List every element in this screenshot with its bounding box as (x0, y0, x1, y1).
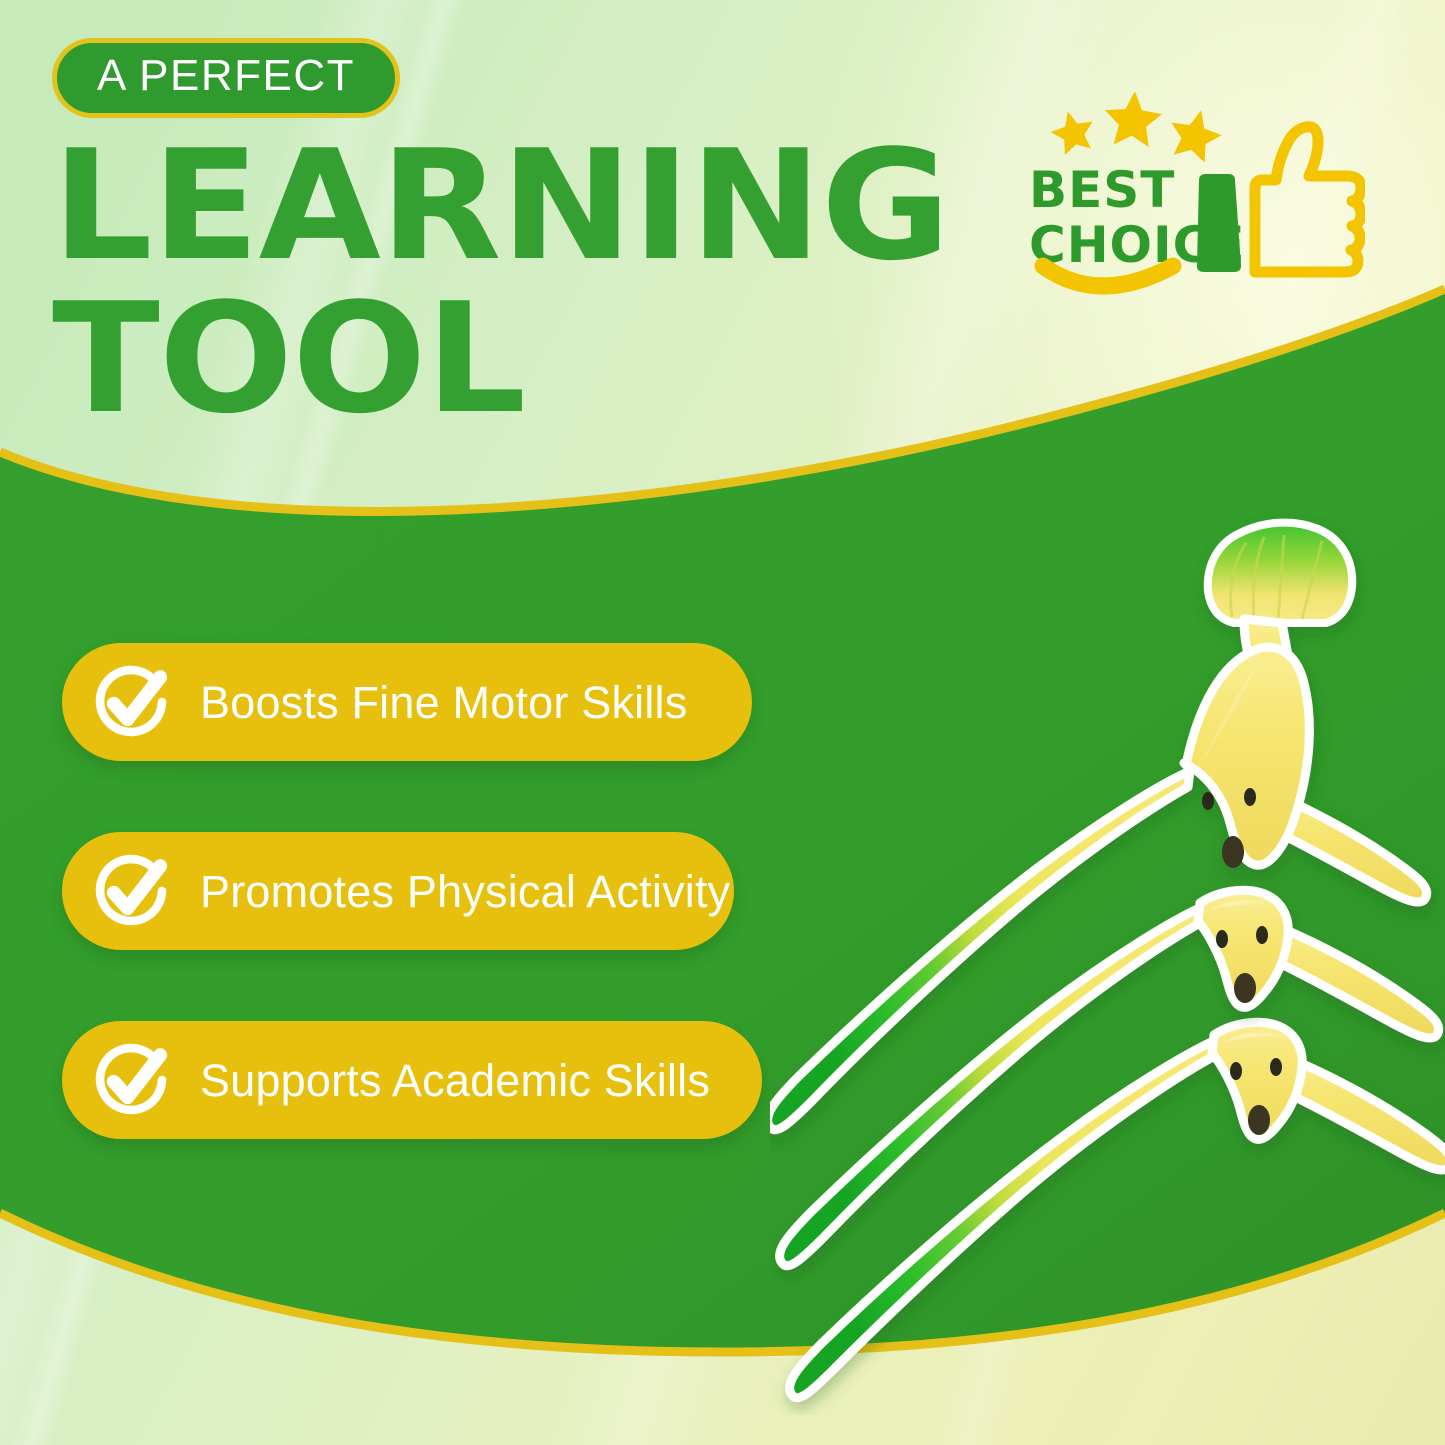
headline-line-2: TOOL (52, 285, 988, 434)
thumb-cuff-shape (1197, 174, 1241, 272)
check-circle-icon (88, 659, 174, 745)
feature-label: Boosts Fine Motor Skills (200, 680, 687, 725)
feature-label: Supports Academic Skills (200, 1058, 710, 1103)
thumbs-up-icon (1255, 127, 1361, 272)
feature-list: Boosts Fine Motor Skills Promotes Physic… (62, 643, 782, 1139)
best-choice-seal: BEST CHOICE (1005, 92, 1365, 307)
star-icon (1047, 106, 1099, 157)
product-marketing-banner: A PERFECT LEARNING TOOL BEST CHOICE (0, 0, 1445, 1445)
star-icon (1164, 104, 1226, 165)
check-circle-icon (88, 1037, 174, 1123)
feature-pill[interactable]: Promotes Physical Activity (62, 832, 734, 950)
header-block: A PERFECT LEARNING TOOL (52, 38, 952, 434)
feature-label: Promotes Physical Activity (200, 869, 730, 914)
seal-line-1: BEST (1029, 161, 1175, 219)
page-title: LEARNING TOOL (52, 132, 952, 434)
star-icon (1103, 92, 1164, 148)
check-circle-icon (88, 848, 174, 934)
eyebrow-badge: A PERFECT (52, 38, 400, 118)
headline-line-1: LEARNING (52, 132, 988, 281)
feature-pill[interactable]: Boosts Fine Motor Skills (62, 643, 752, 761)
best-choice-seal-graphic: BEST CHOICE (1005, 92, 1365, 307)
feature-pill[interactable]: Supports Academic Skills (62, 1021, 762, 1139)
